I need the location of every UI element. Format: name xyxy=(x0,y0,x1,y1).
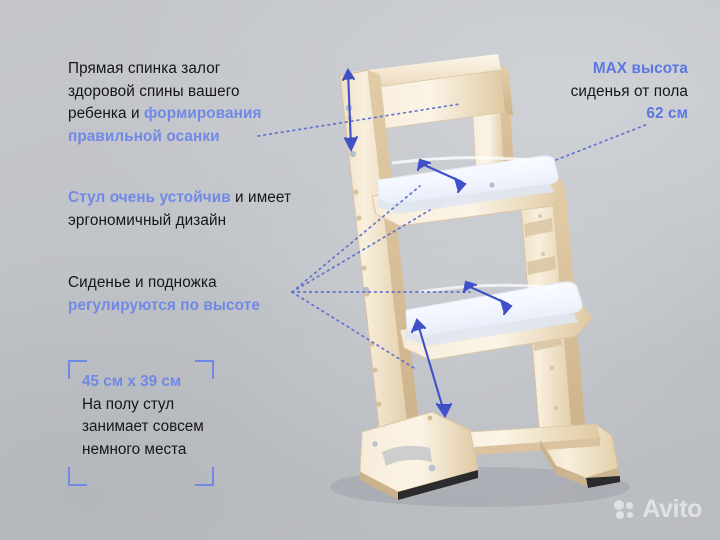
posture-line-4-highlight: правильной осанки xyxy=(68,128,220,145)
callout-max-height: MAX высота сиденья от пола 62 см xyxy=(478,58,688,126)
callout-stability: Стул очень устойчив и имеет эргономичный… xyxy=(68,187,336,232)
max-height-value: 62 см xyxy=(646,105,688,122)
adjustable-line-1: Сиденье и подножка xyxy=(68,274,217,291)
max-height-line-2: сиденья от пола xyxy=(571,83,688,100)
callout-adjustable: Сиденье и подножка регулируются по высот… xyxy=(68,272,330,317)
stability-line-1-plain: и имеет xyxy=(231,189,291,206)
posture-line-2: здоровой спины вашего xyxy=(68,83,240,100)
posture-line-3-highlight: формирования xyxy=(144,105,262,122)
stability-highlight: Стул очень устойчив xyxy=(68,189,231,206)
frame-corner-bottom-right xyxy=(195,467,214,486)
avito-brand-text: Avito xyxy=(642,497,702,522)
frame-corner-bottom-left xyxy=(68,467,87,486)
posture-line-3-plain: ребенка и xyxy=(68,105,144,122)
max-height-title: MAX высота xyxy=(593,60,688,77)
footprint-line-2: занимает совсем xyxy=(82,418,204,435)
stability-line-2: эргономичный дизайн xyxy=(68,212,226,229)
adjustable-highlight: регулируются по высоте xyxy=(68,297,260,314)
avito-watermark: Avito xyxy=(614,497,702,522)
footprint-line-3: немного места xyxy=(82,441,186,458)
avito-dots-logo-icon xyxy=(614,500,636,520)
footprint-line-1: На полу стул xyxy=(82,396,174,413)
posture-line-1: Прямая спинка залог xyxy=(68,60,221,77)
promo-image: Прямая спинка залог здоровой спины вашег… xyxy=(0,0,720,540)
callout-posture: Прямая спинка залог здоровой спины вашег… xyxy=(68,58,326,148)
footprint-dimensions: 45 см x 39 см xyxy=(82,371,257,394)
callout-footprint: 45 см x 39 см На полу стул занимает совс… xyxy=(82,371,257,461)
